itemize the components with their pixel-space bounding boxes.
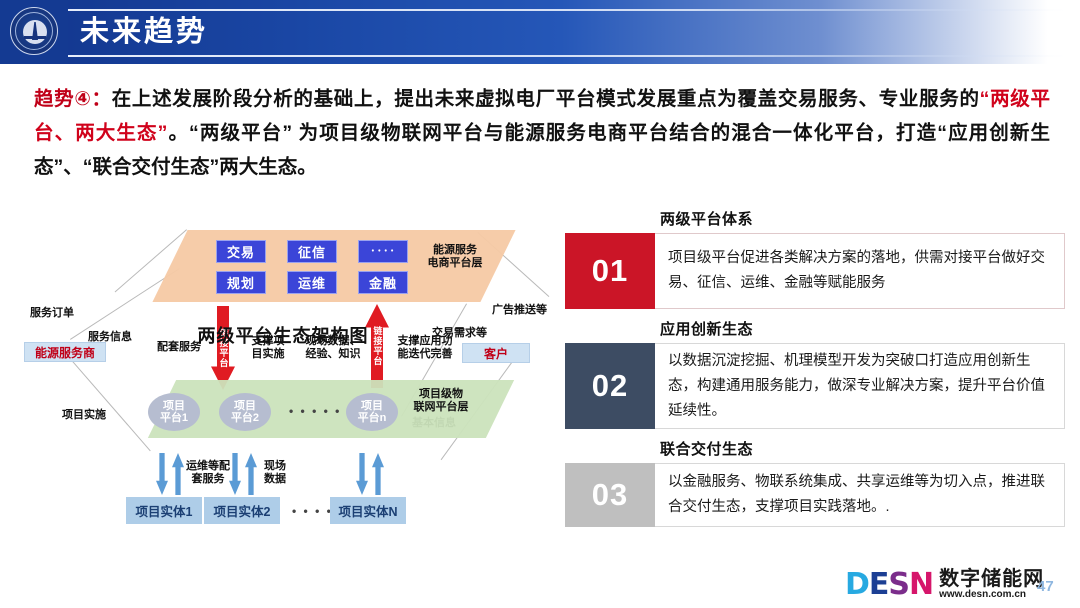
card-title-1: 两级平台体系 — [660, 208, 1065, 229]
label-service-order: 服务订单 — [30, 307, 74, 320]
university-seal-icon — [10, 7, 58, 55]
watermark-logo-icon: DESN — [845, 570, 933, 600]
entity-n: 项目实体N — [330, 497, 406, 524]
card-2[interactable]: 02 以数据沉淀挖掘、机理模型开发为突破口打造应用创新生态，构建通用服务能力，做… — [565, 343, 1065, 429]
card-number-3: 03 — [565, 463, 655, 527]
card-text-2: 以数据沉淀挖掘、机理模型开发为突破口打造应用创新生态，构建通用服务能力，做深专业… — [655, 343, 1065, 429]
actor-customer: 客户 — [462, 343, 530, 363]
card-text-1: 项目级平台促进各类解决方案的落地，供需对接平台做好交易、征信、运维、金融等赋能服… — [655, 233, 1065, 309]
flow-line-left-bottom — [71, 360, 150, 451]
data-arrow-down-2 — [229, 453, 241, 495]
platform-ellipsis: • • • • • • — [289, 404, 353, 418]
watermark-text: 数字储能网 www.desn.com.cn — [939, 569, 1044, 601]
data-arrow-up-2 — [245, 453, 257, 495]
top-box-credit: 征信 — [287, 240, 337, 263]
page-number: 47 — [1037, 578, 1054, 595]
platform-node-n: 项目平台n — [346, 393, 398, 431]
summary-cards: 两级平台体系 01 项目级平台促进各类解决方案的落地，供需对接平台做好交易、征信… — [565, 208, 1065, 548]
mid-layer-label: 项目级物 联网平台层 — [397, 388, 485, 414]
data-arrow-up-n — [372, 453, 384, 495]
label-ops-service: 运维等配套服务 — [186, 460, 230, 486]
top-box-finance: 金融 — [358, 271, 408, 294]
top-layer-label: 能源服务 电商平台层 — [410, 244, 500, 270]
watermark-url: www.desn.com.cn — [939, 589, 1044, 601]
label-project-implementation: 项目实施 — [62, 409, 106, 422]
top-box-more: • • • • — [358, 240, 408, 263]
label-ad-push: 广告推送等 — [492, 304, 547, 317]
top-box-trade: 交易 — [216, 240, 266, 263]
platform-node-1: 项目平台1 — [148, 393, 200, 431]
data-arrow-down-n — [356, 453, 368, 495]
data-arrow-up-1 — [172, 453, 184, 495]
header-rule-top — [68, 9, 1076, 11]
paragraph-part2: 。“两级平台” 为项目级物联网平台与能源服务电商平台结合的混合一体化平台，打造“… — [34, 122, 1050, 178]
card-title-2: 应用创新生态 — [660, 318, 1065, 339]
data-arrow-down-1 — [156, 453, 168, 495]
platform-node-2: 项目平台2 — [219, 393, 271, 431]
slide-root: 未来趋势 趋势④：在上述发展阶段分析的基础上，提出未来虚拟电厂平台模式发展重点为… — [0, 0, 1080, 608]
header-rule-bottom — [68, 55, 1076, 57]
slide-header: 未来趋势 — [0, 0, 1080, 64]
card-title-3: 联合交付生态 — [660, 438, 1065, 459]
label-support-iteration: 支撑应用功能迭代完善 — [390, 335, 460, 361]
entity-1: 项目实体1 — [126, 497, 202, 524]
paragraph-part1: 在上述发展阶段分析的基础上，提出未来虚拟电厂平台模式发展重点为覆盖交易服务、专业… — [112, 88, 980, 110]
top-box-ops: 运维 — [287, 271, 337, 294]
diagram-caption: 两级平台生态架构图 — [168, 322, 398, 348]
entity-2: 项目实体2 — [204, 497, 280, 524]
watermark-brand: 数字储能网 — [939, 569, 1044, 589]
card-3[interactable]: 03 以金融服务、物联系统集成、共享运维等为切入点，推进联合交付生态，支撑项目实… — [565, 463, 1065, 527]
card-number-2: 02 — [565, 343, 655, 429]
card-1[interactable]: 01 项目级平台促进各类解决方案的落地，供需对接平台做好交易、征信、运维、金融等… — [565, 233, 1065, 309]
actor-energy-service-provider: 能源服务商 — [24, 342, 106, 362]
link-platform-arrow-down: 链接平台 — [211, 306, 235, 390]
card-number-1: 01 — [565, 233, 655, 309]
architecture-diagram: 交易 征信 • • • • 规划 运维 金融 能源服务 电商平台层 服务订单 服… — [12, 208, 560, 564]
label-field-data-short: 现场数据 — [260, 460, 290, 486]
intro-paragraph: 趋势④：在上述发展阶段分析的基础上，提出未来虚拟电厂平台模式发展重点为覆盖交易服… — [34, 82, 1050, 184]
top-box-planning: 规划 — [216, 271, 266, 294]
card-text-3: 以金融服务、物联系统集成、共享运维等为切入点，推进联合交付生态，支撑项目实践落地… — [655, 463, 1065, 527]
page-title: 未来趋势 — [80, 12, 208, 52]
paragraph-lead: 趋势④： — [34, 88, 112, 110]
